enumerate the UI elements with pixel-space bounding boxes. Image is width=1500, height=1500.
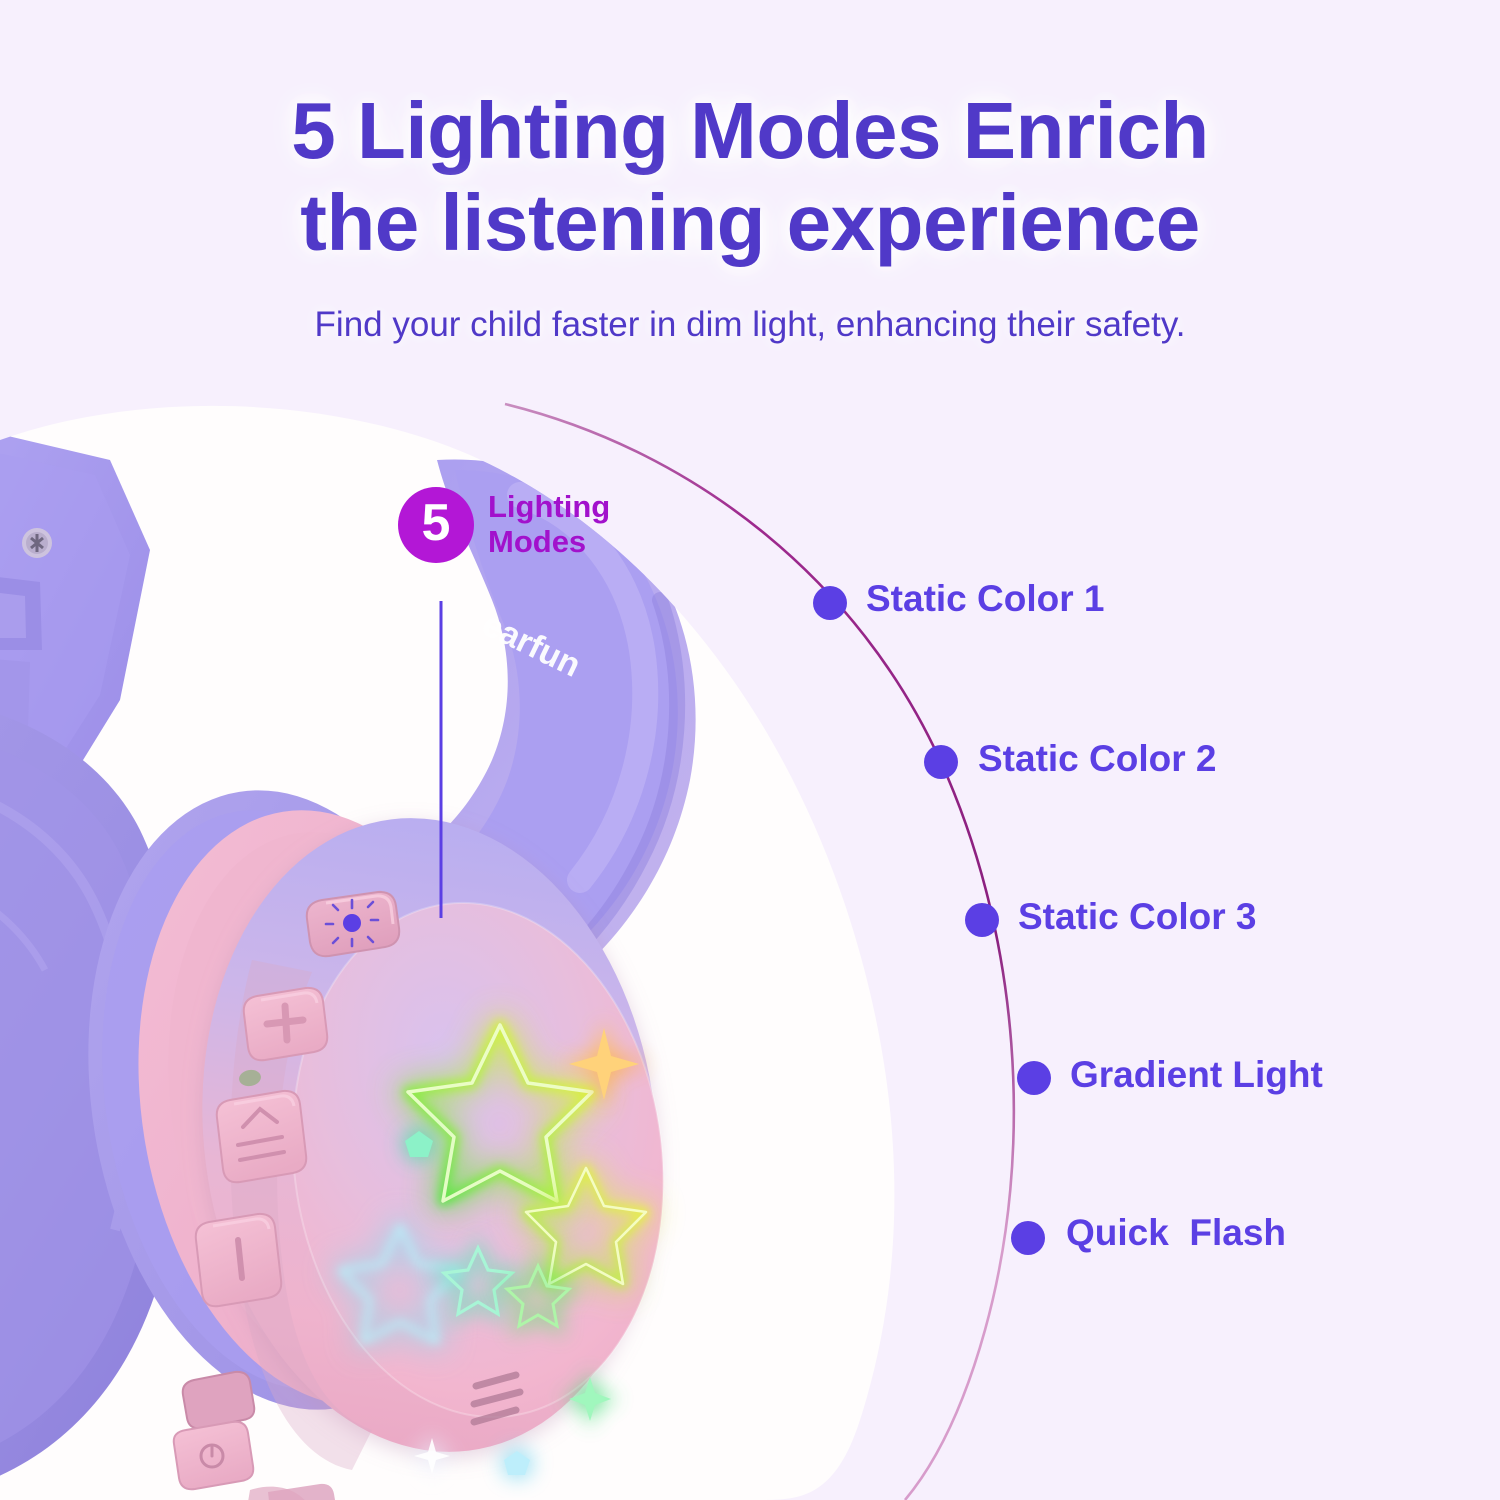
subheadline: Find your child faster in dim light, enh…	[0, 305, 1500, 345]
lighting-modes-badge: 5 Lighting Modes	[398, 487, 610, 563]
product-photo-panel: earfun	[0, 400, 1100, 1500]
play-pause-button[interactable]	[217, 1091, 306, 1182]
callout-label-static-color-3: Static Color 3	[1018, 896, 1257, 938]
headline-line-2: the listening experience	[0, 172, 1500, 264]
callout-label-quick-flash: Quick Flash	[1066, 1212, 1286, 1254]
badge-number: 5	[398, 487, 474, 563]
power-button[interactable]	[174, 1372, 255, 1489]
light-led	[343, 914, 361, 932]
volume-up-button[interactable]	[244, 988, 327, 1060]
badge-label: Lighting Modes	[488, 490, 610, 559]
callout-label-gradient-light: Gradient Light	[1070, 1054, 1323, 1096]
product-feature-image: earfun	[0, 0, 1500, 1500]
bar-icon	[238, 1240, 242, 1278]
volume-down-button[interactable]	[196, 1214, 281, 1306]
light-button[interactable]	[307, 892, 399, 956]
callout-label-static-color-1: Static Color 1	[866, 578, 1105, 620]
header-block: 5 Lighting Modes Enrich the listening ex…	[0, 0, 1500, 345]
page-title: 5 Lighting Modes Enrich the listening ex…	[0, 0, 1500, 263]
badge-label-line-2: Modes	[488, 525, 610, 560]
headline-line-1: 5 Lighting Modes Enrich	[0, 0, 1500, 172]
badge-label-line-1: Lighting	[488, 490, 610, 525]
callout-label-static-color-2: Static Color 2	[978, 738, 1217, 780]
